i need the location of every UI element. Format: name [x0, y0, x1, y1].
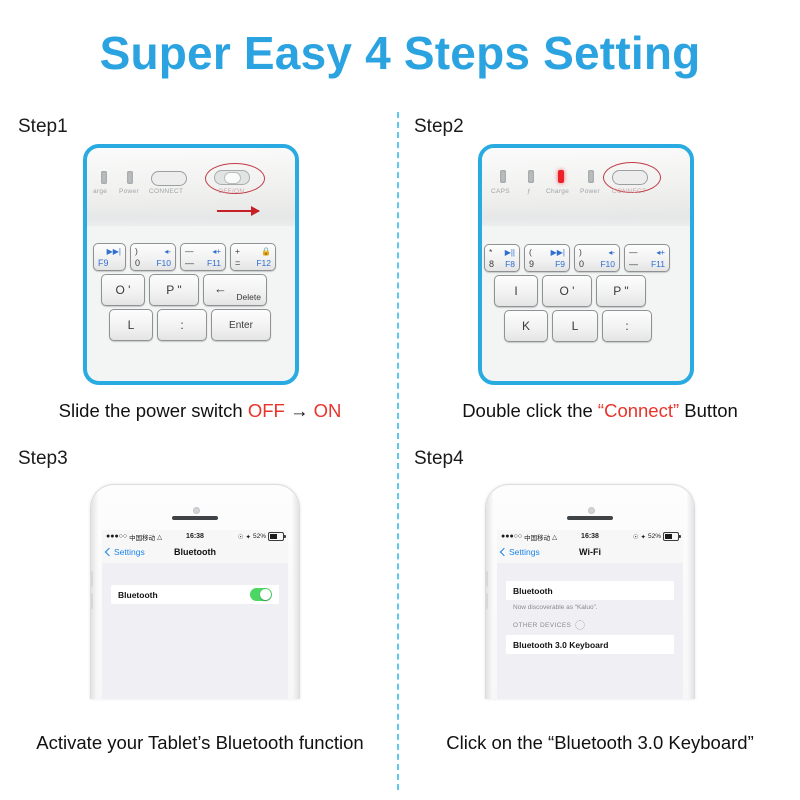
rotation-lock-icon: ✦ [246, 533, 251, 541]
key-o-label: O ' [543, 276, 591, 306]
step-2-panel: Step2 CAPS ƒ Charge Power CONNECT * ▶|| … [400, 110, 800, 442]
battery-icon [268, 532, 284, 541]
earpiece-speaker [567, 516, 613, 520]
key-f10-label: F10 [600, 259, 615, 269]
navigation-bar: Settings Wi-Fi [497, 543, 683, 564]
key-f8[interactable]: * ▶|| 8 F8 [484, 244, 520, 272]
volume-up-button[interactable] [485, 571, 488, 587]
step-4-panel: Step4 ●●●○○ 中国移动 △ 16:38 ☉ ✦ [400, 442, 800, 774]
label-off-on: OFF/ON [218, 188, 244, 195]
key-p[interactable]: P " [149, 274, 199, 306]
bluetooth-row-label: Bluetooth [118, 590, 158, 600]
page-title: Super Easy 4 Steps Setting [0, 26, 800, 80]
key-f10-digit: 0 [579, 259, 584, 269]
step-2-caption: Double click the “Connect” Button [400, 400, 800, 422]
key-o-label: O ' [102, 275, 144, 305]
slide-direction-arrow-icon [217, 210, 259, 212]
key-semicolon[interactable]: : [157, 309, 207, 341]
bluetooth-row[interactable]: Bluetooth [506, 581, 674, 600]
step-3-label: Step3 [18, 448, 68, 470]
keyboard-row-letters-1: I O ' P " [494, 275, 646, 307]
step-2-caption-connect: “Connect” [598, 400, 679, 421]
step-2-label: Step2 [414, 116, 464, 138]
key-f9[interactable]: ▶▶| F9 [93, 243, 126, 271]
key-l[interactable]: L [552, 310, 598, 342]
keyboard-row-letters-2: L : Enter [109, 309, 271, 341]
keyboard-sheen [87, 206, 295, 228]
keyboard-row-letters-2: K L : [504, 310, 652, 342]
key-l[interactable]: L [109, 309, 153, 341]
keyboard-row-function: ▶▶| F9 ) ◂- 0 F10 — ◂+ — F11 + 🔒 [93, 243, 276, 271]
settings-list: Bluetooth Now discoverable as “Kaluo”. O… [497, 563, 683, 699]
keyboard-photo-step2: CAPS ƒ Charge Power CONNECT * ▶|| 8 F8 (… [478, 144, 694, 385]
play-pause-icon: ▶|| [505, 248, 515, 257]
led-bluetooth [528, 170, 534, 183]
keyboard-sheen [482, 206, 690, 228]
step-1-caption-on: ON [314, 400, 342, 421]
key-enter-label: Enter [212, 310, 270, 340]
key-f8-digit: 8 [489, 259, 494, 269]
led-charge [558, 170, 564, 183]
key-f10-digit: 0 [135, 258, 140, 268]
bluetooth-row-label: Bluetooth [513, 586, 553, 596]
key-semicolon[interactable]: : [602, 310, 652, 342]
backspace-arrow-icon: ← [214, 281, 227, 296]
step-3-caption-text: Activate your Tablet’s Bluetooth functio… [36, 732, 363, 753]
key-f11-label: F11 [207, 258, 221, 268]
step-2-caption-prefix: Double click the [462, 400, 598, 421]
other-devices-header: OTHER DEVICES [513, 620, 585, 630]
label-connect: CONNECT [149, 188, 183, 195]
led-caps [500, 170, 506, 183]
key-f9[interactable]: ( ▶▶| 9 F9 [524, 244, 570, 272]
lock-icon: 🔒 [261, 247, 271, 256]
key-delete-label: Delete [236, 292, 261, 302]
bluetooth-keyboard-row[interactable]: Bluetooth 3.0 Keyboard [506, 635, 674, 654]
key-f12-label: F12 [256, 258, 271, 268]
battery-percent-label: 52% [253, 533, 266, 540]
rotation-lock-icon: ✦ [641, 533, 646, 541]
battery-icon [663, 532, 679, 541]
key-f9-label: F9 [98, 258, 109, 268]
front-camera-icon [193, 507, 200, 514]
key-f10-shift-label: ) [135, 246, 138, 256]
settings-list: Bluetooth [102, 563, 288, 699]
label-charge: Charge [546, 188, 569, 195]
bluetooth-toggle[interactable] [250, 588, 272, 601]
key-f11-icon: ◂+ [212, 247, 221, 256]
step-2-caption-suffix: Button [679, 400, 738, 421]
key-f9-digit: 9 [529, 259, 534, 269]
key-l-label: L [553, 311, 597, 341]
key-k[interactable]: K [504, 310, 548, 342]
led-charge [101, 171, 107, 184]
key-f12[interactable]: + 🔒 = F12 [230, 243, 276, 271]
key-f10[interactable]: ) ◂- 0 F10 [130, 243, 176, 271]
volume-up-button[interactable] [90, 571, 93, 587]
led-power [127, 171, 133, 184]
status-bar-right: ☉ ✦ 52% [633, 532, 679, 541]
key-f11[interactable]: — ◂+ — F11 [180, 243, 226, 271]
bluetooth-toggle-row[interactable]: Bluetooth [111, 585, 279, 604]
label-power: Power [580, 188, 600, 195]
battery-percent-label: 52% [648, 533, 661, 540]
step-1-caption-arrow: → [285, 400, 314, 421]
step-1-caption-prefix: Slide the power switch [59, 400, 248, 421]
key-f11-dash-top: — [629, 247, 638, 257]
volume-down-icon: ◂- [608, 248, 615, 257]
key-delete[interactable]: Delete ← [203, 274, 267, 306]
volume-down-button[interactable] [485, 593, 488, 609]
instruction-poster: Super Easy 4 Steps Setting Step1 arge Po… [0, 0, 800, 800]
keyboard-photo-step1: arge Power CONNECT OFF/ON ▶▶| F9 ) ◂- 0 … [83, 144, 299, 385]
key-f12-plus: + [235, 246, 240, 256]
phone-right-edge [687, 485, 694, 699]
status-bar: ●●●○○ 中国移动 △ 16:38 ☉ ✦ 52% [102, 530, 288, 543]
step-3-panel: Step3 ●●●○○ 中国移动 △ 16:38 ☉ ✦ [0, 442, 400, 774]
navigation-bar: Settings Bluetooth [102, 543, 288, 564]
step-1-label: Step1 [18, 116, 68, 138]
key-k-label: K [505, 311, 547, 341]
step-4-label: Step4 [414, 448, 464, 470]
key-f9-label: F9 [555, 259, 565, 269]
earpiece-speaker [172, 516, 218, 520]
label-bluetooth: ƒ [527, 188, 531, 195]
toggle-knob [260, 589, 271, 600]
loading-spinner-icon [575, 620, 585, 630]
other-devices-label: OTHER DEVICES [513, 622, 571, 629]
label-caps: CAPS [491, 188, 510, 195]
keyboard-row-function: * ▶|| 8 F8 ( ▶▶| 9 F9 ) ◂- 0 F10 [484, 244, 670, 272]
next-track-icon: ▶▶| [551, 248, 565, 257]
key-f9-icon: ▶▶| [107, 247, 121, 256]
key-p-label: P " [150, 275, 198, 305]
bluetooth-keyboard-label: Bluetooth 3.0 Keyboard [513, 640, 608, 650]
key-f9-shift-label: ( [529, 247, 532, 257]
key-i[interactable]: I [494, 275, 538, 307]
key-semicolon-label: : [158, 310, 206, 340]
key-p-label: P " [597, 276, 645, 306]
nav-title: Bluetooth [102, 547, 288, 557]
step-1-caption: Slide the power switch OFF → ON [0, 400, 400, 422]
phone-left-edge [91, 485, 98, 699]
label-connect: CONNECT [612, 188, 646, 195]
phone-screen: ●●●○○ 中国移动 △ 16:38 ☉ ✦ 52% Se [497, 530, 683, 699]
key-f11-shift-label: — [185, 246, 194, 256]
status-bar-right: ☉ ✦ 52% [238, 532, 284, 541]
step-3-caption: Activate your Tablet’s Bluetooth functio… [0, 732, 400, 754]
key-f11-dash: — [185, 258, 194, 268]
keyboard-row-letters-1: O ' P " Delete ← [101, 274, 267, 306]
label-power: Power [119, 188, 139, 195]
label-charge: arge [93, 188, 107, 195]
led-power [588, 170, 594, 183]
phone-left-edge [486, 485, 493, 699]
key-p[interactable]: P " [596, 275, 646, 307]
phone-screen: ●●●○○ 中国移动 △ 16:38 ☉ ✦ 52% Se [102, 530, 288, 699]
key-f11-dash: — [629, 259, 638, 269]
step-1-panel: Step1 arge Power CONNECT OFF/ON ▶▶| F9 [0, 110, 400, 442]
key-l-label: L [110, 310, 152, 340]
key-o[interactable]: O ' [542, 275, 592, 307]
connect-button[interactable] [151, 171, 187, 186]
key-f8-shift-label: * [489, 247, 492, 257]
phone-right-edge [292, 485, 299, 699]
key-o[interactable]: O ' [101, 274, 145, 306]
nav-title: Wi-Fi [497, 547, 683, 557]
key-f10-label: F10 [156, 258, 171, 268]
discoverable-note: Now discoverable as “Kaluo”. [513, 604, 598, 611]
key-semicolon-label: : [603, 311, 651, 341]
step-4-caption-text: Click on the “Bluetooth 3.0 Keyboard” [446, 732, 753, 753]
phone-photo-step3: ●●●○○ 中国移动 △ 16:38 ☉ ✦ 52% Se [90, 484, 300, 699]
key-f11[interactable]: — ◂+ — F11 [624, 244, 670, 272]
key-i-label: I [495, 276, 537, 306]
alarm-icon: ☉ [633, 533, 639, 541]
key-f11-label: F11 [651, 259, 665, 269]
step-1-caption-off: OFF [248, 400, 285, 421]
phone-photo-step4: ●●●○○ 中国移动 △ 16:38 ☉ ✦ 52% Se [485, 484, 695, 699]
key-f12-equals: = [235, 258, 240, 268]
volume-down-button[interactable] [90, 593, 93, 609]
key-f10-icon: ◂- [164, 247, 171, 256]
key-enter[interactable]: Enter [211, 309, 271, 341]
alarm-icon: ☉ [238, 533, 244, 541]
volume-up-icon: ◂+ [656, 248, 665, 257]
front-camera-icon [588, 507, 595, 514]
status-bar: ●●●○○ 中国移动 △ 16:38 ☉ ✦ 52% [497, 530, 683, 543]
key-f10-shift-label: ) [579, 247, 582, 257]
key-f8-label: F8 [505, 259, 515, 269]
step-4-caption: Click on the “Bluetooth 3.0 Keyboard” [400, 732, 800, 754]
key-f10[interactable]: ) ◂- 0 F10 [574, 244, 620, 272]
